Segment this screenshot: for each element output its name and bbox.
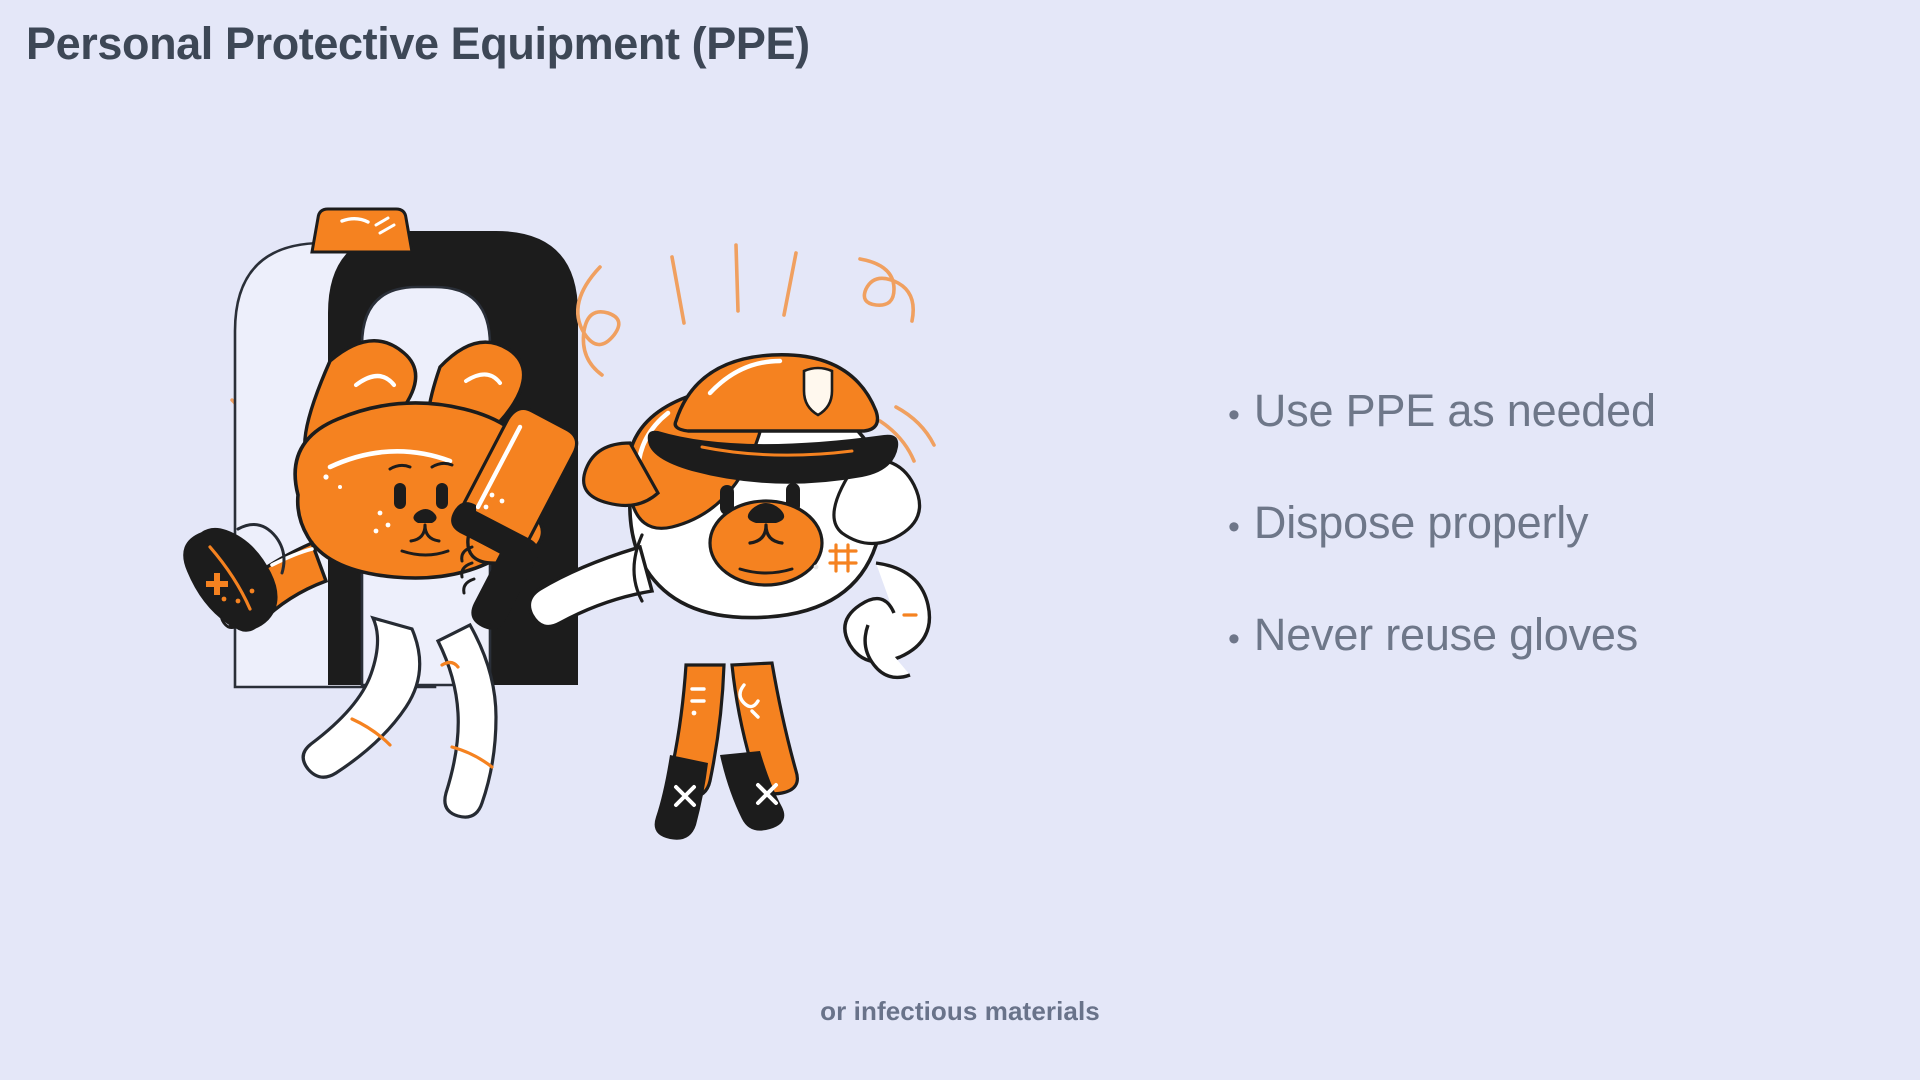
page-title: Personal Protective Equipment (PPE)	[26, 18, 810, 70]
slide-caption: or infectious materials	[0, 996, 1920, 1027]
list-item: • Dispose properly	[1228, 497, 1848, 609]
list-item-label: Dispose properly	[1254, 497, 1588, 549]
bullet-marker-icon: •	[1228, 510, 1240, 544]
list-item-label: Use PPE as needed	[1254, 385, 1656, 437]
guard-dog-character	[529, 355, 929, 840]
police-cap	[648, 355, 899, 484]
key-points-list: • Use PPE as needed • Dispose properly •…	[1228, 385, 1848, 721]
shield-badge-icon	[804, 368, 832, 415]
slide-root: Personal Protective Equipment (PPE)	[0, 0, 1920, 1080]
security-checkpoint-illustration	[180, 195, 1140, 855]
bullet-marker-icon: •	[1228, 622, 1240, 656]
list-item-label: Never reuse gloves	[1254, 609, 1638, 661]
scanner-lamp	[312, 209, 412, 252]
list-item: • Never reuse gloves	[1228, 609, 1848, 721]
list-item: • Use PPE as needed	[1228, 385, 1848, 497]
bullet-marker-icon: •	[1228, 398, 1240, 432]
